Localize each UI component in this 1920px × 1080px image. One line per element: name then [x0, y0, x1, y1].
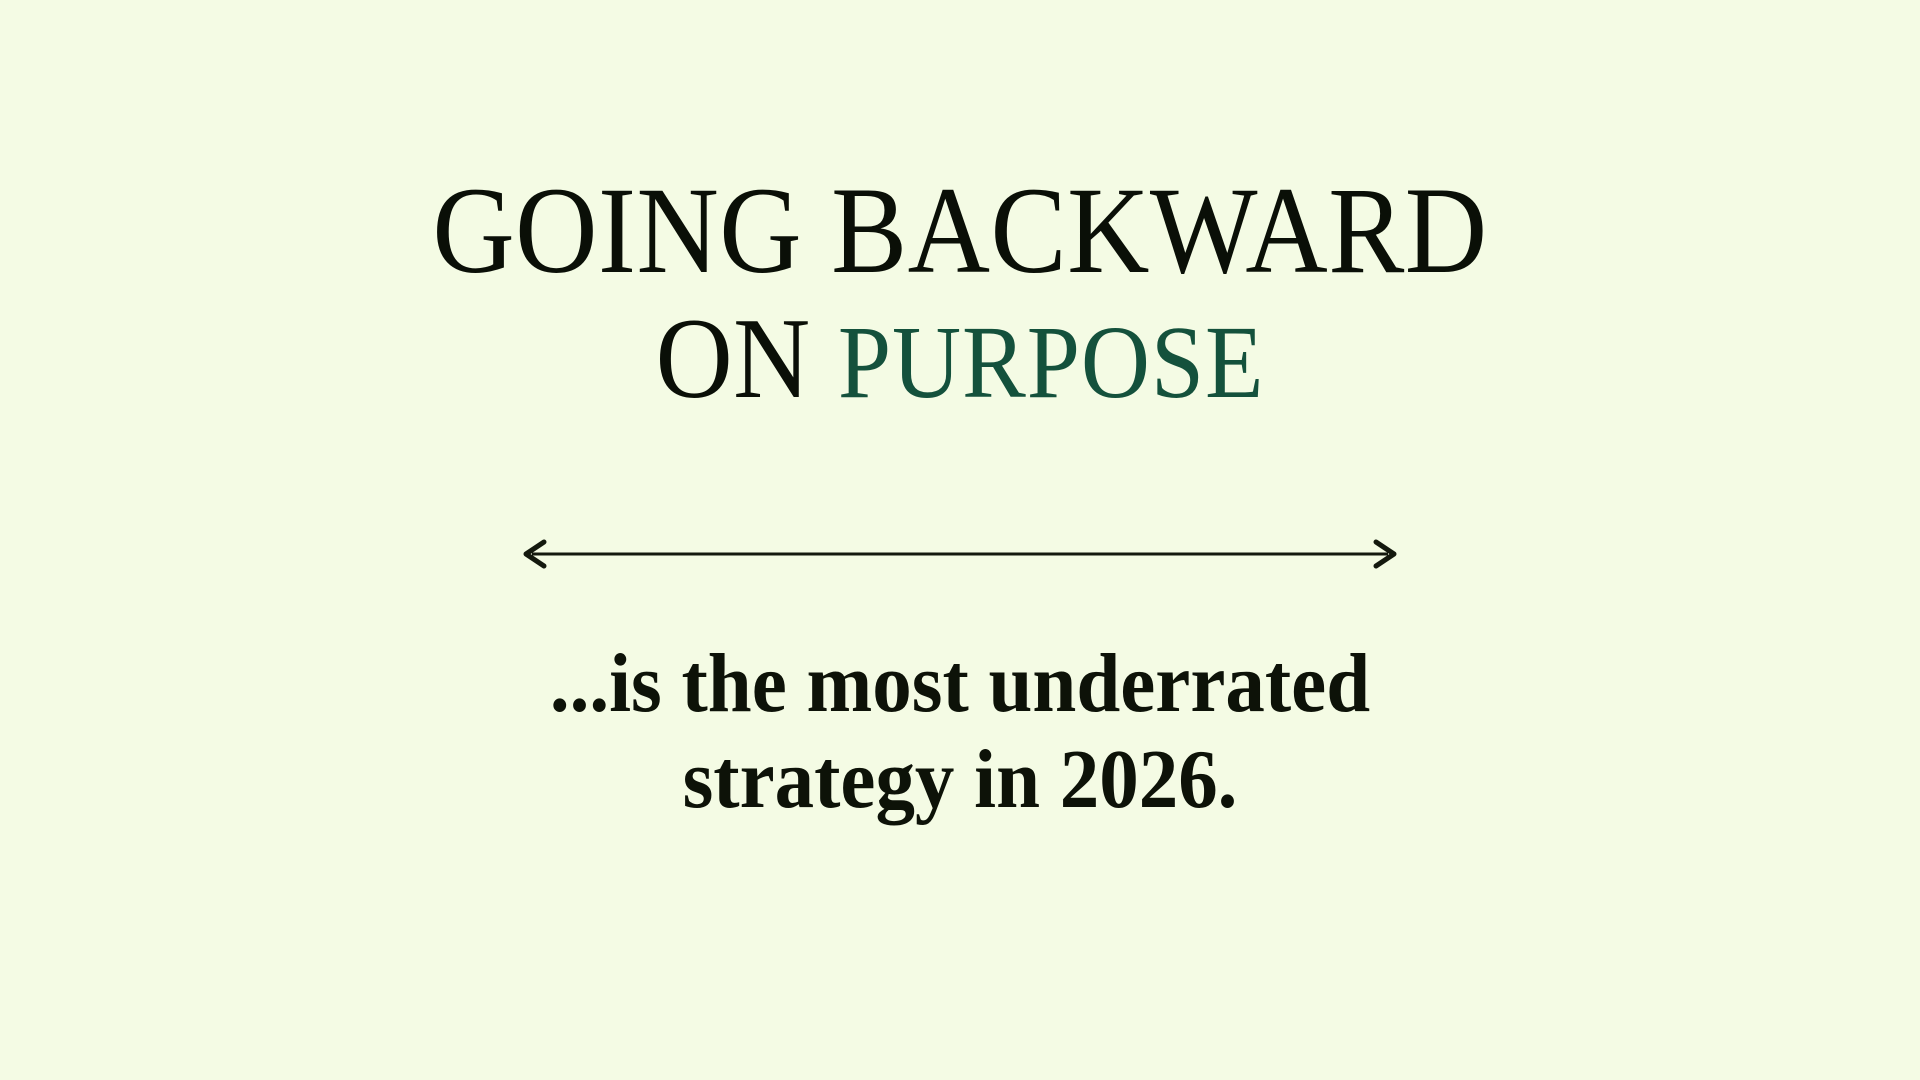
- headline-line-1: GOING BACKWARD: [270, 168, 1650, 294]
- headline-accent-word: PURPOSE: [838, 305, 1265, 420]
- subtitle-line-1: ...is the most underrated: [58, 636, 1863, 732]
- slide-canvas: GOING BACKWARD ON PURPOSE ...is the most…: [0, 0, 1920, 1080]
- subtitle-line-2: strategy in 2026.: [58, 732, 1863, 828]
- divider: [0, 530, 1920, 578]
- headline-line-2-prefix: ON: [656, 295, 838, 423]
- subtitle: ...is the most underrated strategy in 20…: [58, 636, 1863, 828]
- page-title: GOING BACKWARD ON PURPOSE: [270, 0, 1650, 419]
- headline-line-2: ON PURPOSE: [270, 300, 1650, 418]
- double-headed-arrow-icon: [520, 536, 1400, 572]
